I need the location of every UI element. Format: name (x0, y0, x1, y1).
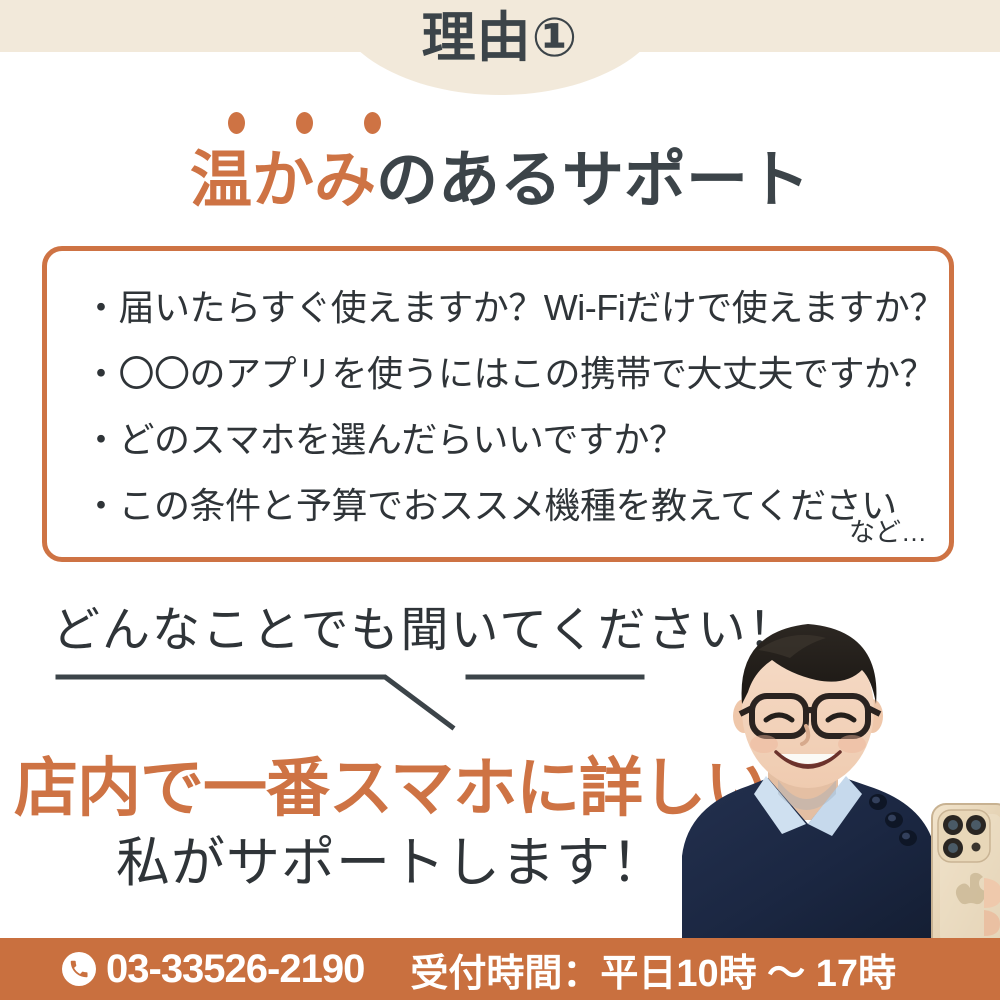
section-subheadline: 温かみのあるサポート (0, 142, 1000, 220)
emphasis-dot-icon (228, 112, 245, 134)
emphasis-dot-icon (364, 112, 381, 134)
page-title: 理由① (0, 6, 1000, 70)
speech-bubble-tail-lines (40, 665, 680, 745)
subheadline-rest: のあるサポート (376, 146, 810, 215)
business-hours: 受付時間：平日10時 〜 17時 (410, 942, 896, 997)
emphasis-dots (224, 112, 424, 138)
staff-photo (640, 588, 1000, 940)
phone-handset-icon (62, 952, 96, 986)
contact-bar: 03-33526-2190 受付時間：平日10時 〜 17時 (0, 938, 1000, 1000)
list-item: ・届いたらすぐ使えますか？Wi-Fiだけで使えますか？ (83, 275, 943, 341)
list-item: ・〇〇のアプリを使うにはこの携帯で大丈夫ですか？ (83, 341, 943, 407)
phone-chip[interactable]: 03-33526-2190 (62, 947, 364, 992)
questions-footnote: など… (849, 512, 927, 549)
questions-list: ・届いたらすぐ使えますか？Wi-Fiだけで使えますか？ ・〇〇のアプリを使うには… (83, 275, 943, 539)
emphasis-dot-icon (296, 112, 313, 134)
list-item: ・この条件と予算でおススメ機種を教えてください (83, 473, 943, 539)
subheadline-highlight: 温かみ (190, 146, 376, 215)
promo-poster: 理由① 温かみのあるサポート ・届いたらすぐ使えますか？Wi-Fiだけで使えます… (0, 0, 1000, 1000)
phone-number: 03-33526-2190 (106, 947, 364, 992)
closing-subline: 私がサポートします！ (116, 828, 666, 898)
list-item: ・どのスマホを選んだらいいですか？ (83, 407, 943, 473)
questions-box: ・届いたらすぐ使えますか？Wi-Fiだけで使えますか？ ・〇〇のアプリを使うには… (42, 246, 954, 562)
